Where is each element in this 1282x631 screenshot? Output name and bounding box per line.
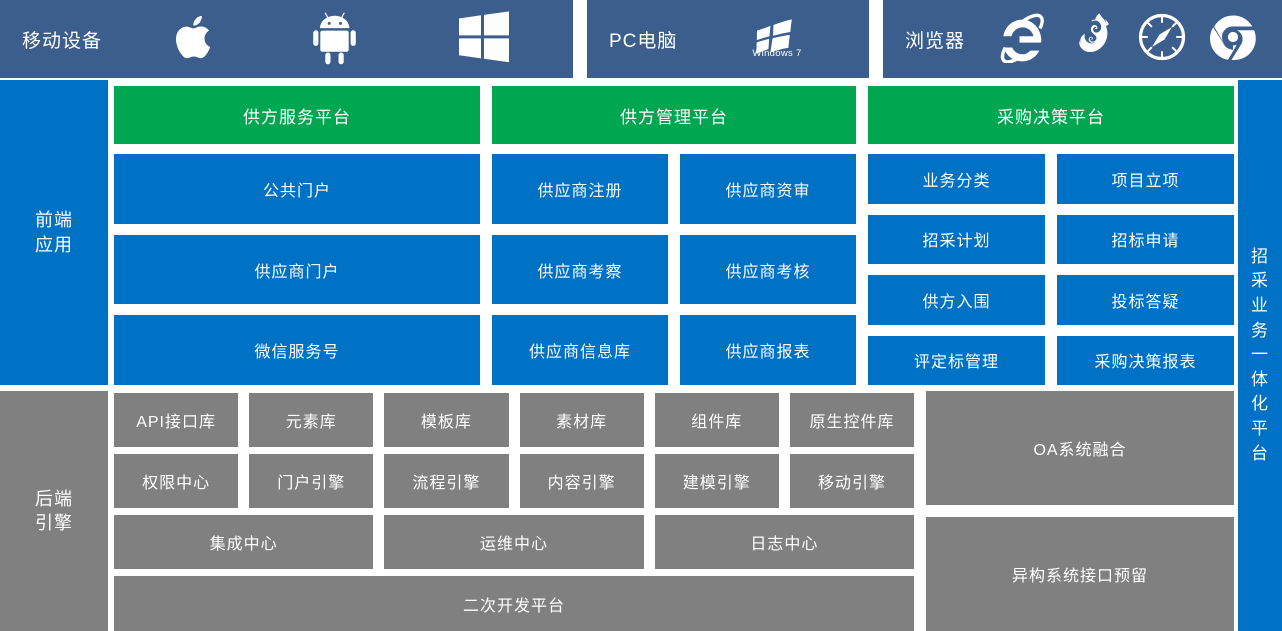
module-column-supplier-service: 公共门户 供应商门户 微信服务号 [114, 154, 480, 385]
engine-element-library[interactable]: 元素库 [249, 393, 373, 447]
platform-header-row: 供方服务平台 供方管理平台 采购决策平台 [114, 86, 1234, 144]
engine-native-control-library[interactable]: 原生控件库 [790, 393, 914, 447]
engine-mobile-engine[interactable]: 移动引擎 [790, 454, 914, 508]
module-bid-clarification[interactable]: 投标答疑 [1057, 275, 1234, 325]
module-supplier-assessment[interactable]: 供应商考核 [680, 235, 856, 305]
module-supplier-registration[interactable]: 供应商注册 [492, 154, 668, 224]
firefox-icon [1067, 11, 1117, 68]
engine-material-library[interactable]: 素材库 [520, 393, 644, 447]
engine-workflow-engine[interactable]: 流程引擎 [384, 454, 508, 508]
header-panel-pc-computer: PC电脑 Windows 7 [587, 0, 869, 78]
header-label-pc-computer: PC电脑 [587, 26, 685, 53]
header-label-mobile-devices: 移动设备 [0, 26, 110, 53]
frontend-modules: 公共门户 供应商门户 微信服务号 供应商注册 供应商考察 供应商信息库 供应商资… [114, 154, 1234, 385]
engine-heterogeneous-interface-reserve[interactable]: 异构系统接口预留 [926, 517, 1234, 631]
header-icons-mobile [110, 0, 573, 78]
header-panel-mobile-devices: 移动设备 [0, 0, 573, 78]
header-icons-browsers [973, 0, 1282, 78]
engine-component-library[interactable]: 组件库 [655, 393, 779, 447]
windows-7-icon: Windows 7 [747, 17, 807, 62]
platform-body: 前端应用 后端引擎 招采业务一体化平台 供方服务平台 供方管理平台 采购决策平台… [0, 80, 1282, 631]
header-gap-2 [869, 0, 883, 78]
engine-secondary-development-platform[interactable]: 二次开发平台 [114, 576, 914, 631]
backend-region: API接口库 元素库 模板库 素材库 组件库 原生控件库 权限中心 门户引擎 流… [114, 391, 1234, 631]
frontend-region: 供方服务平台 供方管理平台 采购决策平台 公共门户 供应商门户 微信服务号 供应… [114, 80, 1234, 385]
module-row-2: 招采计划 招标申请 [868, 215, 1234, 265]
engine-integration-center[interactable]: 集成中心 [114, 515, 373, 569]
module-supplier-info-database[interactable]: 供应商信息库 [492, 315, 668, 385]
platform-supplier-management[interactable]: 供方管理平台 [492, 86, 856, 144]
module-row-4: 评定标管理 采购决策报表 [868, 336, 1234, 386]
windows-phone-icon [456, 11, 512, 68]
engine-api-library[interactable]: API接口库 [114, 393, 238, 447]
module-row-3: 供方入围 投标答疑 [868, 275, 1234, 325]
module-procurement-plan[interactable]: 招采计划 [868, 215, 1045, 265]
module-project-initiation[interactable]: 项目立项 [1057, 154, 1234, 204]
backend-row-libraries: API接口库 元素库 模板库 素材库 组件库 原生控件库 [114, 393, 914, 447]
platform-supplier-service[interactable]: 供方服务平台 [114, 86, 480, 144]
module-row-1: 业务分类 项目立项 [868, 154, 1234, 204]
header-gap-1 [573, 0, 587, 78]
android-icon [311, 8, 363, 71]
chrome-icon [1207, 11, 1259, 68]
module-bid-application[interactable]: 招标申请 [1057, 215, 1234, 265]
header-label-browsers: 浏览器 [883, 26, 973, 53]
module-supplier-portal[interactable]: 供应商门户 [114, 235, 480, 305]
architecture-diagram: 移动设备 [0, 0, 1282, 631]
sidebar-backend-engine: 后端引擎 [0, 391, 108, 631]
module-evaluation-management[interactable]: 评定标管理 [868, 336, 1045, 386]
module-public-portal[interactable]: 公共门户 [114, 154, 480, 224]
sidebar-frontend-application: 前端应用 [0, 80, 108, 385]
engine-operations-center[interactable]: 运维中心 [384, 515, 643, 569]
engine-content-engine[interactable]: 内容引擎 [520, 454, 644, 508]
engine-log-center[interactable]: 日志中心 [655, 515, 914, 569]
sidebar-backend-label: 后端引擎 [34, 487, 74, 536]
sidebar-platform-label: 招采业务一体化平台 [1250, 245, 1270, 467]
engine-template-library[interactable]: 模板库 [384, 393, 508, 447]
device-header-row: 移动设备 [0, 0, 1282, 78]
sidebar-platform-title: 招采业务一体化平台 [1238, 80, 1282, 631]
apple-icon [171, 9, 219, 70]
module-subcolumn-right: 供应商资审 供应商考核 供应商报表 [680, 154, 856, 385]
module-wechat-service-account[interactable]: 微信服务号 [114, 315, 480, 385]
backend-right-column: OA系统融合 异构系统接口预留 [926, 391, 1234, 631]
safari-icon [1136, 11, 1188, 68]
backend-row-engines: 权限中心 门户引擎 流程引擎 内容引擎 建模引擎 移动引擎 [114, 454, 914, 508]
backend-row-dev-platform: 二次开发平台 [114, 576, 914, 631]
header-panel-browsers: 浏览器 [883, 0, 1282, 78]
module-subcolumn-left: 供应商注册 供应商考察 供应商信息库 [492, 154, 668, 385]
engine-permission-center[interactable]: 权限中心 [114, 454, 238, 508]
module-supplier-inspection[interactable]: 供应商考察 [492, 235, 668, 305]
backend-row-centers: 集成中心 运维中心 日志中心 [114, 515, 914, 569]
module-supplier-qualification-review[interactable]: 供应商资审 [680, 154, 856, 224]
module-supplier-shortlist[interactable]: 供方入围 [868, 275, 1045, 325]
module-supplier-report[interactable]: 供应商报表 [680, 315, 856, 385]
engine-portal-engine[interactable]: 门户引擎 [249, 454, 373, 508]
engine-modeling-engine[interactable]: 建模引擎 [655, 454, 779, 508]
svg-text:Windows 7: Windows 7 [753, 48, 802, 57]
engine-oa-system-integration[interactable]: OA系统融合 [926, 391, 1234, 505]
module-column-supplier-management: 供应商注册 供应商考察 供应商信息库 供应商资审 供应商考核 供应商报表 [492, 154, 856, 385]
header-icons-pc: Windows 7 [685, 0, 869, 78]
sidebar-frontend-label: 前端应用 [34, 208, 74, 257]
platform-procurement-decision[interactable]: 采购决策平台 [868, 86, 1234, 144]
module-column-procurement-decision: 业务分类 项目立项 招采计划 招标申请 供方入围 投标答疑 评定标管理 采购决策… [868, 154, 1234, 385]
internet-explorer-icon [996, 11, 1048, 68]
module-business-classification[interactable]: 业务分类 [868, 154, 1045, 204]
backend-left-grid: API接口库 元素库 模板库 素材库 组件库 原生控件库 权限中心 门户引擎 流… [114, 391, 914, 631]
module-procurement-decision-report[interactable]: 采购决策报表 [1057, 336, 1234, 386]
